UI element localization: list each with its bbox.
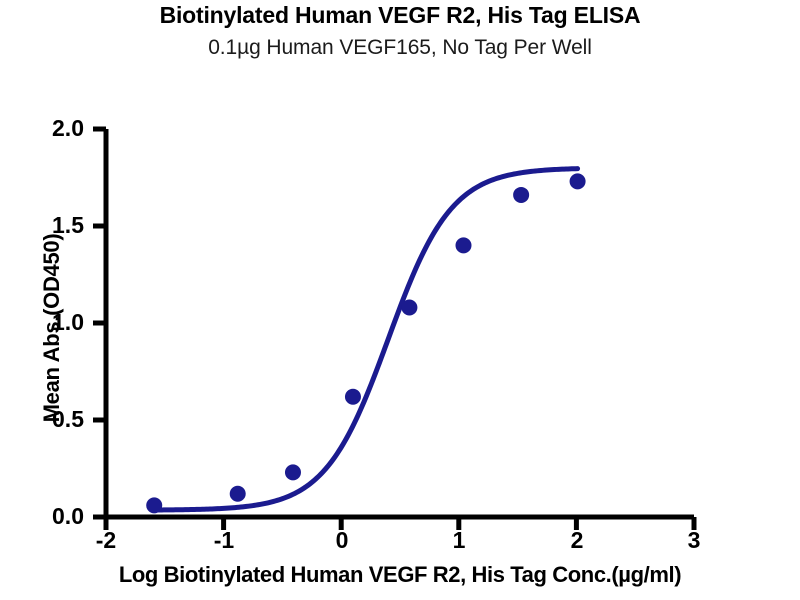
plot-area: [0, 0, 800, 600]
chart-figure: Biotinylated Human VEGF R2, His Tag ELIS…: [0, 0, 800, 600]
axis-lines: [106, 129, 694, 517]
data-point-group: [146, 173, 585, 513]
data-point: [401, 299, 417, 315]
fit-curve: [154, 169, 577, 510]
data-point: [513, 187, 529, 203]
data-point: [345, 389, 361, 405]
data-point: [456, 237, 472, 253]
data-point: [146, 497, 162, 513]
data-point: [285, 464, 301, 480]
data-point: [570, 173, 586, 189]
data-point: [230, 486, 246, 502]
